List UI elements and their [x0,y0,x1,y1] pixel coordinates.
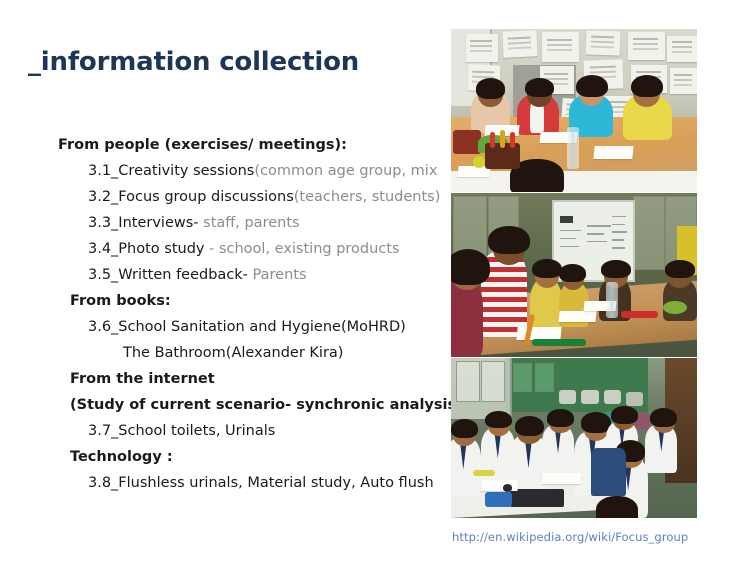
page-title: _information collection [28,47,359,77]
item-3-4: 3.4_Photo study - school, existing produ… [88,240,400,258]
from-internet-heading: From the internet [70,370,215,388]
photo-creativity-session [451,29,697,192]
item-3-7: 3.7_School toilets, Urinals [88,422,275,440]
slide-information-collection: _information collection From people (exe… [0,0,750,563]
source-url-caption[interactable]: http://en.wikipedia.org/wiki/Focus_group [452,530,688,544]
item-3-2: 3.2_Focus group discussions(teachers, st… [88,188,440,206]
content-list: From people (exercises/ meetings): 3.1_C… [0,136,460,476]
item-3-1: 3.1_Creativity sessions(common age group… [88,162,437,180]
from-books-heading: From books: [70,292,171,310]
photo-column [451,29,697,518]
photo-focus-group-writing [451,193,697,357]
item-3-8: 3.8_Flushless urinals, Material study, A… [88,474,434,492]
item-bathroom: The Bathroom(Alexander Kira) [123,344,343,362]
item-3-6: 3.6_School Sanitation and Hygiene(MoHRD) [88,318,406,336]
from-people-heading: From people (exercises/ meetings): [58,136,347,154]
item-3-3: 3.3_Interviews- staff, parents [88,214,300,232]
item-3-5: 3.5_Written feedback- Parents [88,266,307,284]
study-scenario-heading: (Study of current scenario- synchronic a… [70,396,469,414]
technology-heading: Technology : [70,448,173,466]
photo-school-students-lab [451,358,697,518]
